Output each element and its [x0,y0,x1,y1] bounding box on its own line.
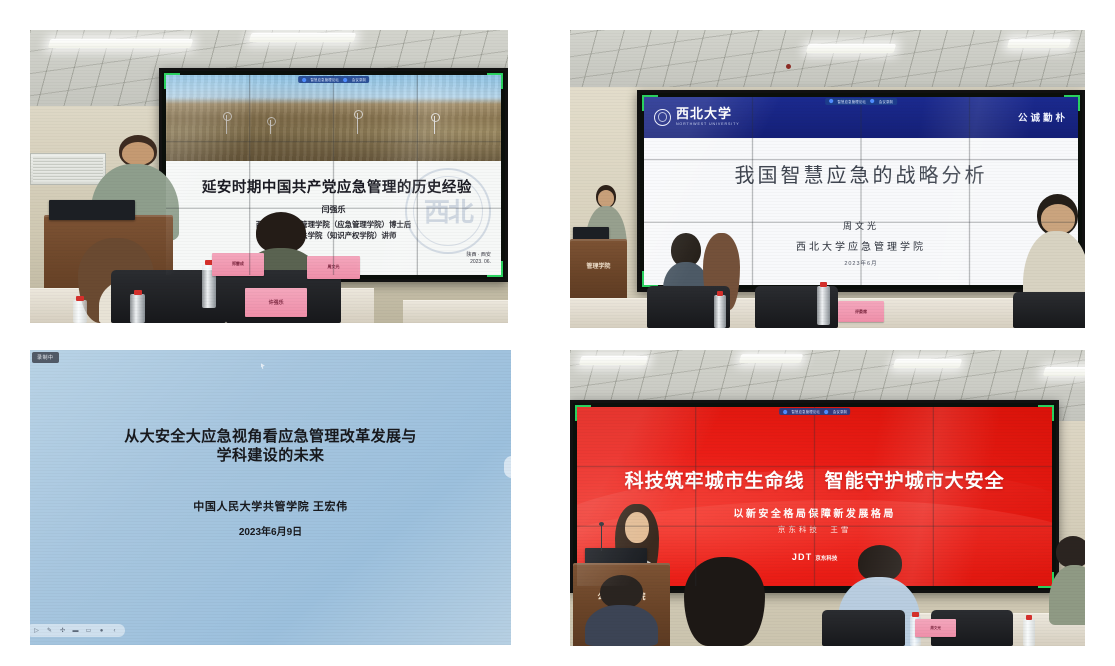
meeting-toolbar-overlay: 智慧应急管理论坛 会议录制 [779,408,851,415]
logo-cn: 京东科技 [815,556,837,562]
audience-person [585,575,657,646]
name-card: 评委席 [838,301,884,322]
slide-title: 科技筑牢城市生命线 智能守护城市大安全 [596,466,1033,493]
ceiling-light [893,359,963,368]
screen-surface: 西北 延安时期中国共产党应急管理的历史经验 闫强乐 西北大学公共管理学院（应急管… [166,75,501,275]
collapse-icon[interactable]: ‹ [111,627,118,634]
stop-icon[interactable]: ● [98,627,105,634]
logo-latin: JDT [792,552,813,562]
slide-title-line-2: 学科建设的未来 [78,446,463,466]
name-card: 周文光 [915,619,956,637]
audience-desk [403,300,508,323]
wind-turbine-icon [357,113,358,134]
podium-laptop [49,200,135,221]
ceiling-light [1043,367,1085,376]
slide-title-line-1: 从大安全大应急视角看应急管理改革发展与 [78,427,463,447]
ceiling-light [249,33,357,42]
podium: 管理学院 [570,239,627,305]
ceiling-light [739,354,803,363]
photo-2: 西北大学 NORTHWEST UNIVERSITY 公诚勤朴 我国智慧应急的战略… [570,30,1085,328]
comment-icon[interactable]: ▭ [85,627,92,634]
meeting-toolbar-overlay: 智慧应急管理论坛 会议录制 [298,76,370,83]
ceiling-light [1006,39,1070,48]
meeting-status-dot [829,99,833,103]
wind-turbine-icon [226,115,227,134]
video-wall-display: 西北 延安时期中国共产党应急管理的历史经验 闫强乐 西北大学公共管理学院（应急管… [159,68,508,282]
photo-3: 录制中 从大安全大应急视角看应急管理改革发展与 学科建设的未来 中国人民大学共管… [30,350,511,645]
slide-date: 2023年6月9日 [30,523,511,538]
meeting-bar-left-label: 智慧应急管理论坛 [837,98,865,103]
audience-head [600,575,643,609]
ceiling-light [579,356,649,365]
name-card: 许强乐 [245,288,307,317]
slide-author: 周文光 [644,219,1078,232]
water-bottle [1023,619,1034,646]
university-logo: 西北大学 NORTHWEST UNIVERSITY [654,108,740,126]
slide-header-image [166,75,501,161]
university-motto: 公诚勤朴 [1018,110,1068,124]
brand-name-en: NORTHWEST UNIVERSITY [676,123,740,127]
speaker-face [598,190,614,207]
record-status-dot [870,99,874,103]
meeting-bar-left-label: 智慧应急管理论坛 [791,409,819,414]
meeting-toolbar-overlay: 智慧应急管理论坛 会议录制 [825,98,897,105]
wind-turbine-icon [434,116,435,133]
affiliation-line-1: 西北大学公共管理学院（应急管理学院）博士后 [166,220,501,231]
photo-1: 西北 延安时期中国共产党应急管理的历史经验 闫强乐 西北大学公共管理学院（应急管… [30,30,508,323]
brand-name-cn: 西北大学 [676,108,740,121]
eraser-icon[interactable]: ▬ [72,627,79,634]
spotlight-icon[interactable]: ✣ [59,627,66,634]
drag-handle[interactable] [504,456,511,478]
recording-badge: 录制中 [32,352,59,363]
chair [1013,292,1085,328]
slide-author: 闫强乐 [166,204,501,215]
audience-person [1049,536,1085,625]
slide-affiliation: 西北大学公共管理学院（应急管理学院）博士后 西北大学法学院（知识产权学院）讲师 [166,220,501,241]
audience-hair [684,557,766,646]
meeting-bar-right-label: 会议录制 [879,98,893,103]
photo-4: 科技筑牢城市生命线 智能守护城市大安全 以新安全格局保障新发展格局 京东科技 王… [570,350,1085,646]
meeting-status-dot [302,77,306,81]
meeting-bar-right-label: 会议录制 [833,409,847,414]
ceiling-light [48,39,194,48]
slide-footer-location: 陕西 · 西安 [466,252,490,260]
slide-footer: 陕西 · 西安 2023. 06. [466,252,490,267]
name-card: 郑雷成 [212,253,265,276]
affiliation-line-2: 西北大学法学院（知识产权学院）讲师 [166,231,501,242]
water-bottle [73,300,87,323]
water-bottle [130,294,144,323]
slide-title: 我国智慧应急的战略分析 [644,159,1078,188]
lecture-room-4: 科技筑牢城市生命线 智能守护城市大安全 以新安全格局保障新发展格局 京东科技 王… [570,350,1085,646]
podium-label: 管理学院 [570,261,627,270]
wind-turbine-icon [270,120,271,135]
university-crest-icon [654,109,671,126]
slide-content-1: 西北 延安时期中国共产党应急管理的历史经验 闫强乐 西北大学公共管理学院（应急管… [166,75,501,275]
slide-title: 延安时期中国共产党应急管理的历史经验 [189,176,484,197]
meeting-status-dot [783,410,787,414]
water-bottle [714,295,725,328]
microphone-icon [601,525,603,552]
audience-torso [1049,565,1085,625]
slide-content-3: 录制中 从大安全大应急视角看应急管理改革发展与 学科建设的未来 中国人民大学共管… [30,350,511,645]
annotation-toolbar[interactable]: ▷ ✎ ✣ ▬ ▭ ● ‹ [30,624,125,637]
mouse-cursor-icon [261,363,265,369]
record-status-dot [343,77,347,81]
chair [822,610,904,646]
speaker-face [625,512,650,543]
meeting-bar-left-label: 智慧应急管理论坛 [310,77,338,82]
audience-person [678,557,771,646]
audience-face [1041,204,1076,234]
name-card: 周文光 [307,256,360,279]
meeting-bar-right-label: 会议录制 [351,77,365,82]
slide-title: 从大安全大应急视角看应急管理改革发展与 学科建设的未来 [78,427,463,467]
pen-icon[interactable]: ✎ [46,627,53,634]
audience-head [1056,536,1085,568]
cursor-icon[interactable]: ▷ [33,627,40,634]
speaker-face [122,142,155,165]
lecture-room-2: 西北大学 NORTHWEST UNIVERSITY 公诚勤朴 我国智慧应急的战略… [570,30,1085,328]
audience-torso [585,605,657,646]
water-bottle [817,286,829,325]
shared-screen-slide: 录制中 从大安全大应急视角看应急管理改革发展与 学科建设的未来 中国人民大学共管… [30,350,511,645]
record-status-dot [824,410,828,414]
photo-grid: 西北 延安时期中国共产党应急管理的历史经验 闫强乐 西北大学公共管理学院（应急管… [0,0,1115,666]
slide-author: 中国人民大学共管学院 王宏伟 [30,498,511,514]
slide-footer-date: 2023. 06. [466,259,490,267]
ceiling-light [806,44,896,53]
lecture-room-1: 西北 延安时期中国共产党应急管理的历史经验 闫强乐 西北大学公共管理学院（应急管… [30,30,508,323]
